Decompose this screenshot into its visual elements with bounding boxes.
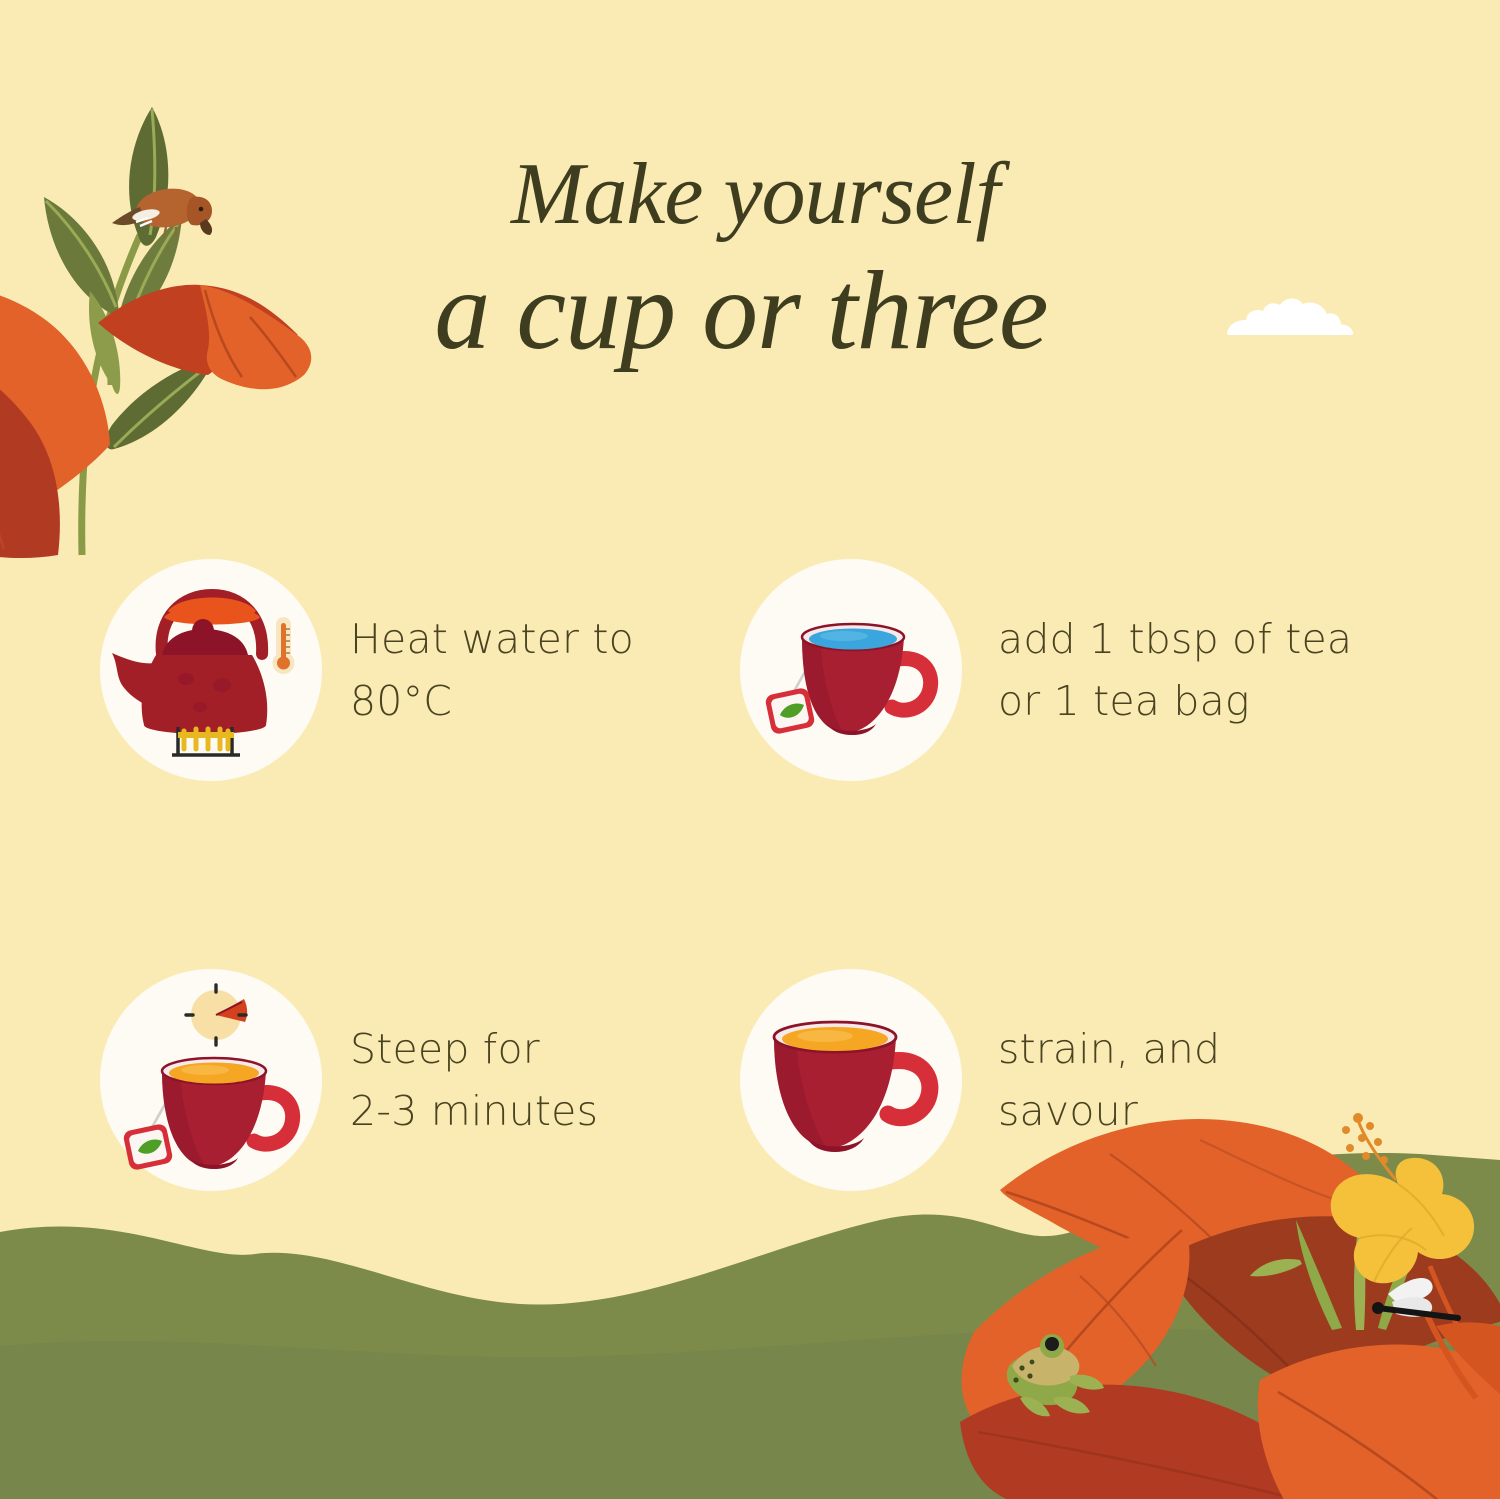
grass-blade bbox=[1354, 1206, 1365, 1330]
grass-blade bbox=[1296, 1220, 1342, 1330]
step-add-tea: add 1 tbsp of tea or 1 tea bag bbox=[740, 555, 1380, 785]
teabag-tag bbox=[122, 1123, 173, 1171]
step-label: strain, and savour bbox=[998, 1018, 1220, 1143]
step-steep: Steep for 2-3 minutes bbox=[100, 965, 740, 1195]
step-heat-water: Heat water to 80°C bbox=[100, 555, 740, 785]
step-strain-savour: strain, and savour bbox=[740, 965, 1380, 1195]
teabag-tag bbox=[764, 687, 815, 735]
grass-blade bbox=[1378, 1222, 1424, 1330]
cup-of-tea-icon bbox=[740, 969, 962, 1191]
dragonfly-icon bbox=[1372, 1278, 1458, 1318]
title-line-2: a cup or three bbox=[0, 254, 1500, 368]
orange-leaf bbox=[962, 1226, 1190, 1427]
tea-brewing-instructions-poster: Make yourself a cup or three bbox=[0, 0, 1500, 1499]
timer-icon bbox=[186, 985, 247, 1045]
title-line-1: Make yourself bbox=[0, 150, 1500, 240]
brewing-steps-grid: Heat water to 80°C bbox=[100, 555, 1370, 1195]
timer-cup-icon bbox=[100, 969, 322, 1191]
red-leaf bbox=[0, 335, 60, 558]
frog-icon bbox=[1001, 1334, 1104, 1416]
kettle-on-stove-icon bbox=[100, 559, 322, 781]
cup-with-teabag-icon bbox=[740, 559, 962, 781]
red-leaf bbox=[960, 1385, 1346, 1499]
grass-blade bbox=[1250, 1259, 1302, 1276]
orange-leaf bbox=[1258, 1345, 1500, 1499]
page-title: Make yourself a cup or three bbox=[0, 150, 1500, 368]
step-label: add 1 tbsp of tea or 1 tea bag bbox=[998, 608, 1352, 733]
green-leaf bbox=[106, 357, 216, 449]
dark-red-leaf bbox=[1160, 1216, 1500, 1400]
step-label: Steep for 2-3 minutes bbox=[350, 1018, 598, 1143]
step-label: Heat water to 80°C bbox=[350, 608, 634, 733]
rolling-hills-illustration bbox=[0, 1150, 1500, 1499]
orange-leaf bbox=[1436, 1322, 1500, 1410]
